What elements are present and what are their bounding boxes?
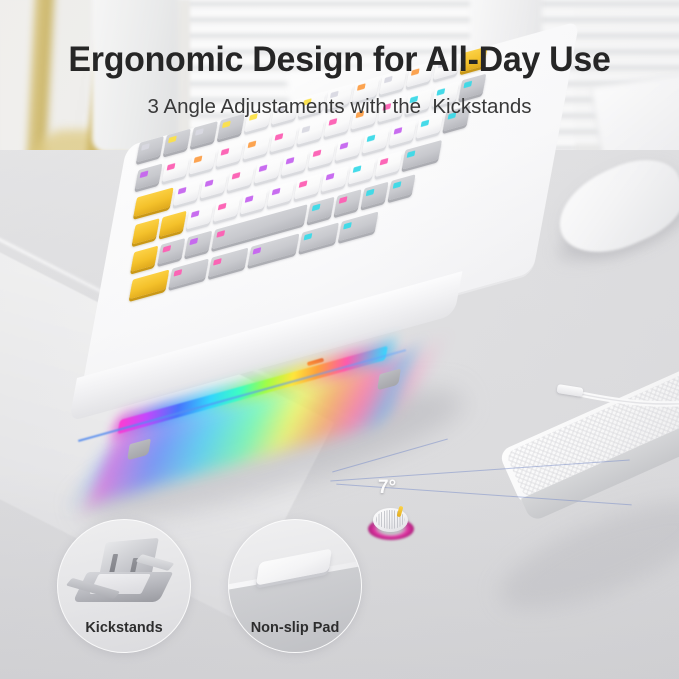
key-led [302, 126, 311, 134]
usb-c-cable [557, 368, 679, 428]
key-led [232, 172, 241, 180]
key[interactable] [169, 259, 209, 289]
key[interactable] [297, 119, 325, 145]
callout-label: Non-slip Pad [229, 620, 361, 636]
key[interactable] [321, 166, 349, 192]
key-led [248, 141, 257, 149]
key[interactable] [189, 148, 217, 174]
key-led [340, 142, 349, 150]
key-led [253, 247, 262, 255]
page-title: Ergonomic Design for All-Day Use [10, 40, 669, 80]
key[interactable] [375, 151, 403, 177]
key-led [168, 136, 177, 144]
key-led [259, 164, 268, 172]
key-led [222, 121, 231, 129]
key-led [216, 230, 225, 238]
key-accent[interactable] [159, 211, 187, 237]
key-led [245, 195, 254, 203]
key-led [421, 120, 430, 128]
key-led [275, 133, 284, 141]
key-led [366, 189, 375, 197]
callout-non-slip-pad: Non-slip Pad [228, 519, 362, 653]
key-led [357, 83, 366, 91]
angle-label: 7° [378, 477, 396, 499]
key-accent[interactable] [129, 269, 169, 299]
key[interactable] [361, 182, 389, 208]
key[interactable] [173, 180, 201, 206]
key-accent[interactable] [131, 246, 159, 272]
key-led [329, 118, 338, 126]
key-led [194, 156, 203, 164]
pad-surface [228, 566, 362, 653]
key-led [141, 143, 150, 151]
key-led [343, 222, 352, 230]
key-accent[interactable] [133, 187, 173, 217]
key[interactable] [157, 238, 185, 264]
key-led [380, 158, 389, 166]
key-led [221, 148, 230, 156]
key-led [167, 163, 176, 171]
key[interactable] [267, 181, 295, 207]
key-led [140, 170, 149, 178]
key[interactable] [240, 188, 268, 214]
key-led [326, 173, 335, 181]
key[interactable] [307, 197, 335, 223]
key-led [463, 81, 472, 89]
product-marketing-image: 7° Ergonomic Design for All-Day Use 3 An… [0, 0, 679, 679]
key[interactable] [388, 174, 416, 200]
key-led [313, 149, 322, 157]
key[interactable] [281, 150, 309, 176]
key[interactable] [135, 163, 163, 189]
key-led [407, 150, 416, 158]
key[interactable] [136, 136, 164, 162]
key[interactable] [338, 211, 378, 241]
key[interactable] [362, 127, 390, 153]
key-led [195, 128, 204, 136]
key[interactable] [162, 156, 190, 182]
mechanical-keyboard [60, 140, 580, 480]
key-led [174, 269, 183, 277]
key[interactable] [208, 248, 248, 278]
key-led [299, 180, 308, 188]
key[interactable] [184, 231, 212, 257]
key-led [205, 179, 214, 187]
key-led [162, 245, 171, 253]
key[interactable] [216, 141, 244, 167]
key[interactable] [186, 203, 214, 229]
key[interactable] [334, 189, 362, 215]
key[interactable] [348, 158, 376, 184]
key[interactable] [389, 120, 417, 146]
key[interactable] [227, 165, 255, 191]
key-led [339, 196, 348, 204]
key[interactable] [213, 196, 241, 222]
key-led [394, 127, 403, 135]
key[interactable] [308, 142, 336, 168]
key-led [393, 181, 402, 189]
key-led [218, 203, 227, 211]
key-led [191, 210, 200, 218]
key[interactable] [294, 173, 322, 199]
key-led [367, 135, 376, 143]
key[interactable] [299, 222, 339, 252]
key-led [312, 204, 321, 212]
key[interactable] [248, 233, 300, 266]
cable-path-icon [557, 368, 679, 428]
callout-label: Kickstands [58, 620, 190, 636]
key[interactable] [335, 135, 363, 161]
key[interactable] [254, 157, 282, 183]
key-led [286, 157, 295, 165]
key[interactable] [402, 140, 442, 170]
key-led [189, 238, 198, 246]
key[interactable] [200, 172, 228, 198]
key[interactable] [243, 134, 271, 160]
key-led [353, 165, 362, 173]
key-led [272, 188, 281, 196]
kickstand-illustration [72, 536, 176, 624]
key-led [304, 233, 313, 241]
callout-kickstands: Kickstands [57, 519, 191, 653]
key-led [178, 187, 187, 195]
key-led [213, 258, 222, 266]
page-subtitle: 3 Angle Adjustaments with the Kickstands [0, 95, 679, 119]
key[interactable] [270, 126, 298, 152]
key-accent[interactable] [132, 218, 160, 244]
